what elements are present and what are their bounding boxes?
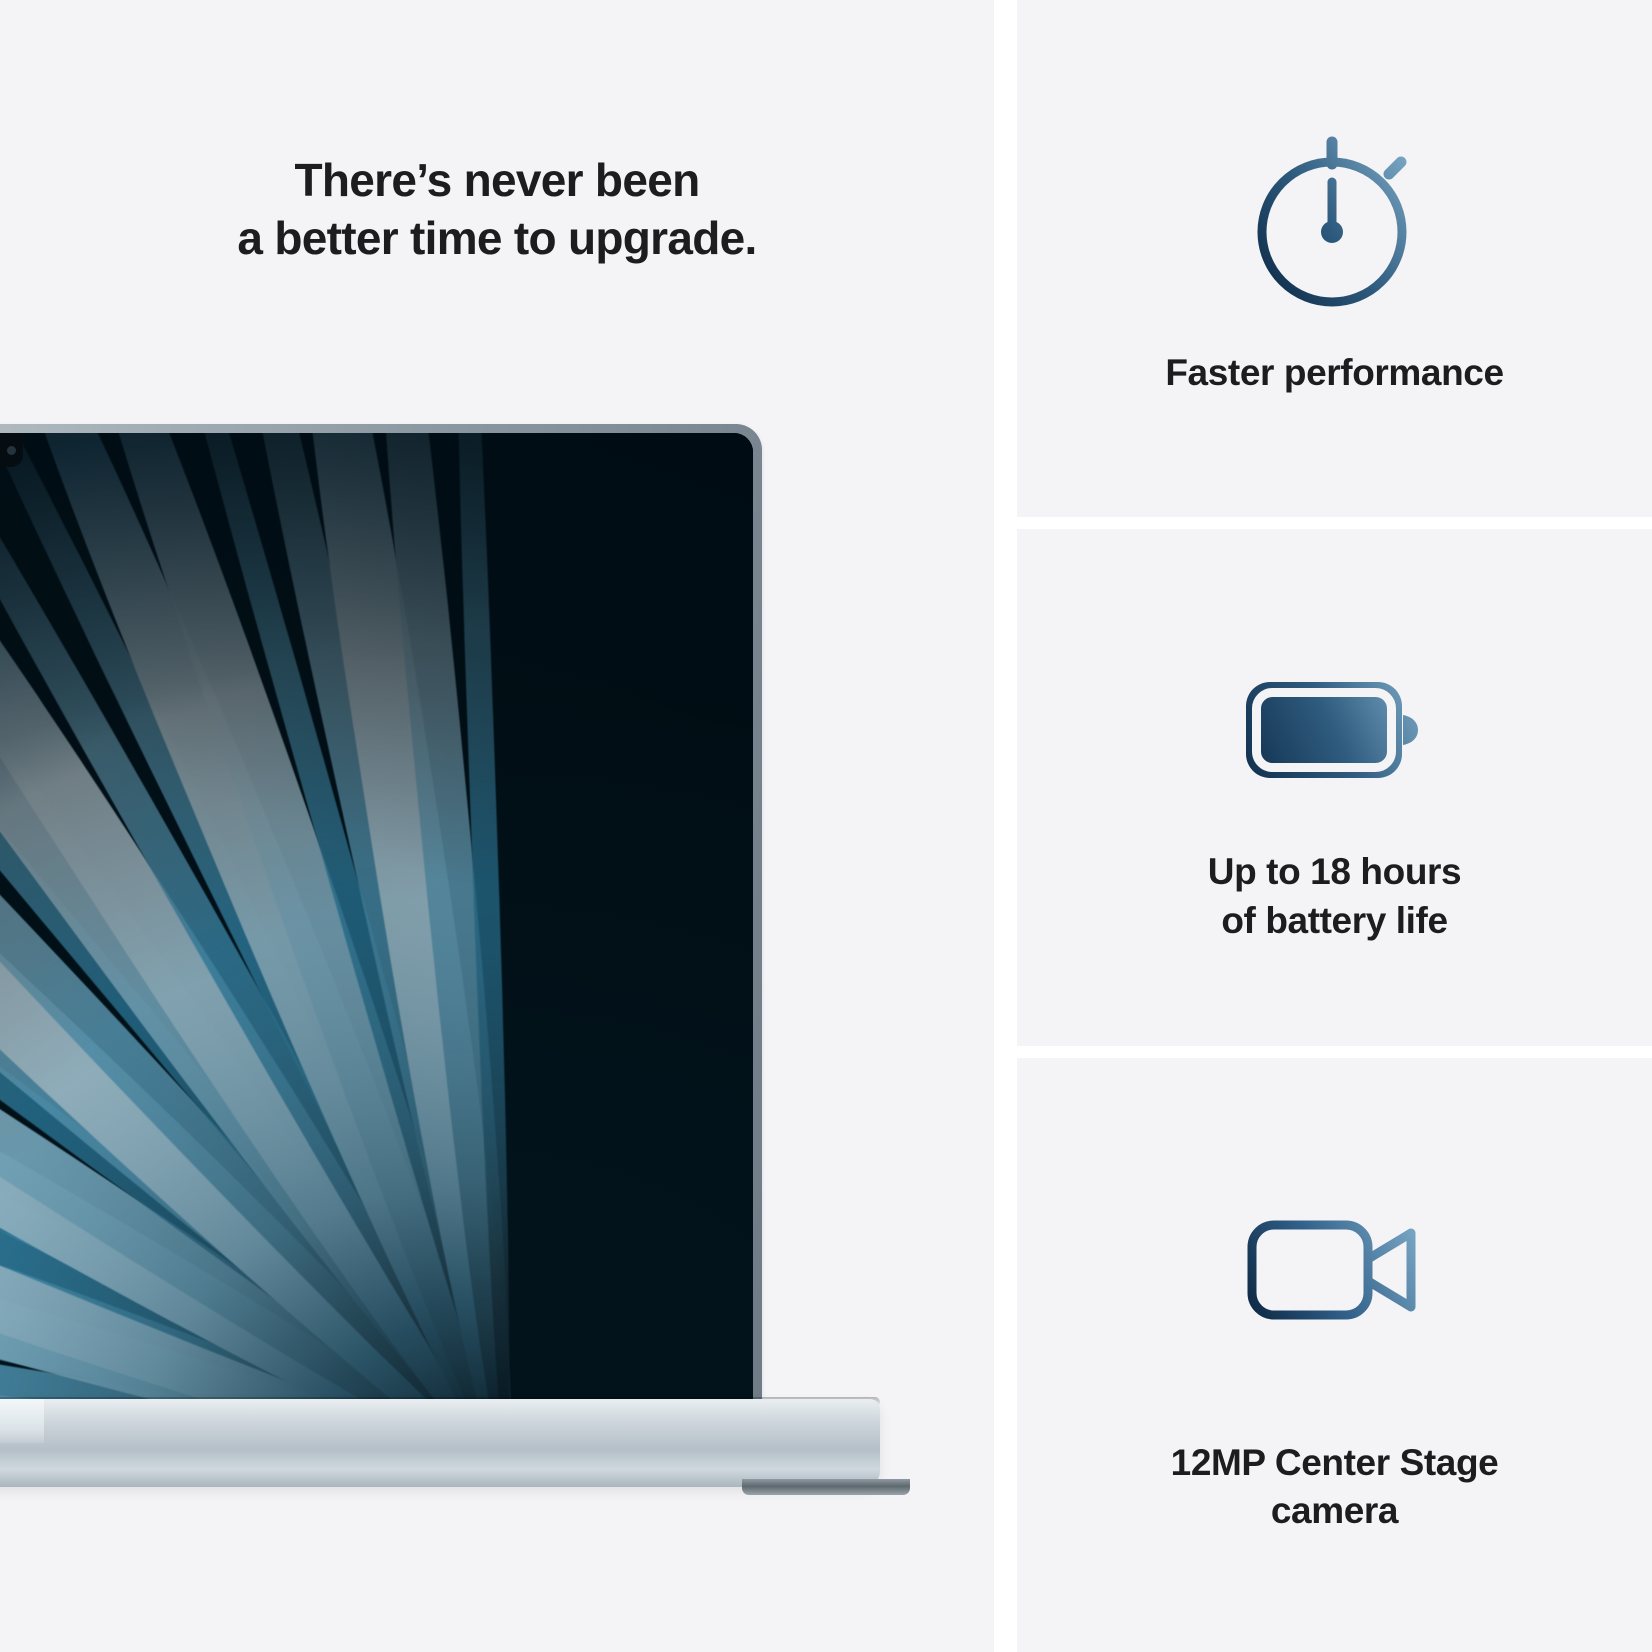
feature-card-faster-performance: Faster performance	[1017, 0, 1652, 517]
promo-tile: There’s never been a better time to upgr…	[0, 0, 1652, 1652]
laptop-foot	[742, 1479, 910, 1495]
stopwatch-icon	[1246, 119, 1424, 319]
feature-card-center-stage-camera: 12MP Center Stage camera	[1017, 1058, 1652, 1652]
feature-label: Up to 18 hours of battery life	[1180, 848, 1489, 944]
feature-card-list: Faster performance	[1017, 0, 1652, 1652]
feature-label: 12MP Center Stage camera	[1143, 1439, 1527, 1535]
desktop-wallpaper	[0, 433, 753, 1409]
feature-card-battery-life: Up to 18 hours of battery life	[1017, 529, 1652, 1046]
laptop-base	[0, 1399, 880, 1487]
battery-icon	[1240, 630, 1430, 830]
video-camera-icon	[1245, 1175, 1425, 1365]
feature-label: Faster performance	[1137, 349, 1531, 397]
laptop-base-lip	[0, 1399, 44, 1443]
laptop-lid	[0, 424, 762, 1409]
laptop-screen	[0, 433, 753, 1409]
facetime-camera-icon	[7, 446, 16, 455]
hero-panel: There’s never been a better time to upgr…	[0, 0, 994, 1652]
page-title: There’s never been a better time to upgr…	[0, 152, 994, 268]
macbook-air-product-image	[0, 424, 762, 1514]
